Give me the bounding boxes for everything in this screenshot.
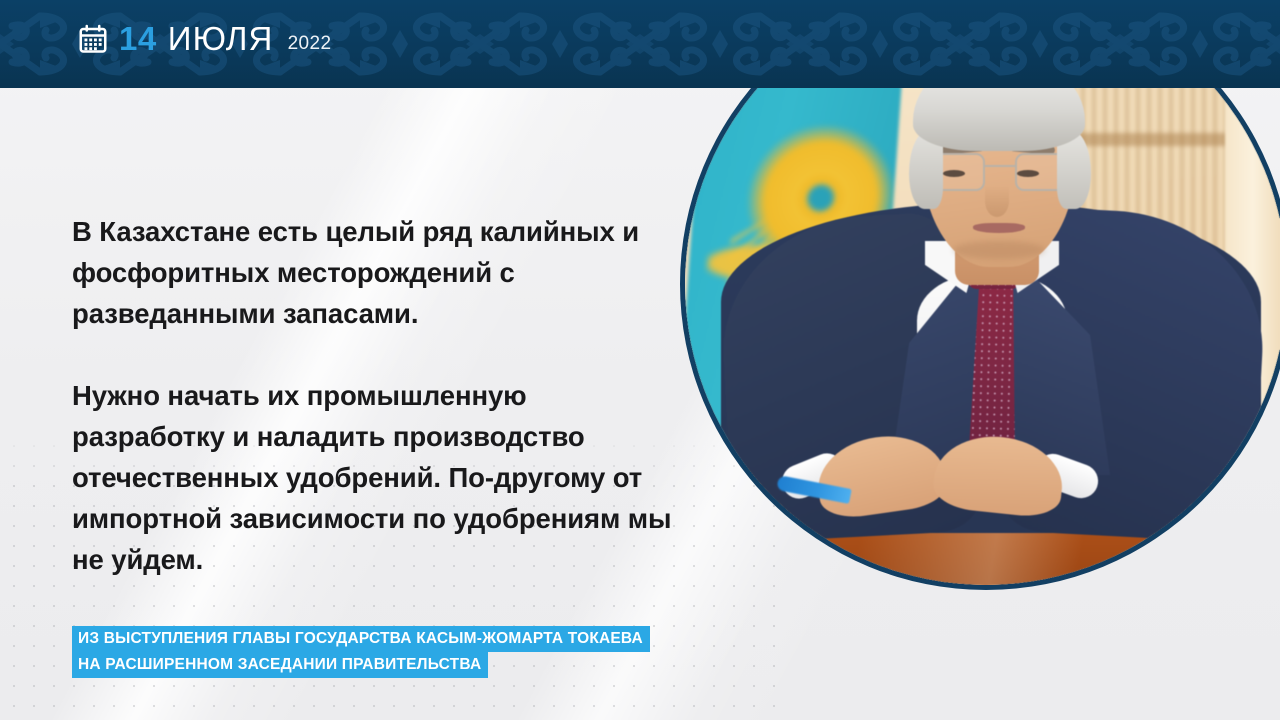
glasses-bridge [983, 165, 1017, 167]
caption-line-2: НА РАСШИРЕННОМ ЗАСЕДАНИИ ПРАВИТЕЛЬСТВА [72, 652, 488, 678]
caption-line-1: ИЗ ВЫСТУПЛЕНИЯ ГЛАВЫ ГОСУДАРСТВА КАСЫМ-Ж… [72, 626, 650, 652]
header-bar: 14 ИЮЛЯ 2022 [0, 0, 1280, 88]
source-caption: ИЗ ВЫСТУПЛЕНИЯ ГЛАВЫ ГОСУДАРСТВА КАСЫМ-Ж… [72, 626, 650, 678]
quote-card: 14 ИЮЛЯ 2022 В Казахстане есть целый ряд… [0, 0, 1280, 720]
eyeglasses [925, 153, 1075, 193]
calendar-icon [78, 24, 108, 54]
quote-paragraph-1: В Казахстане есть целый ряд калийных и ф… [72, 211, 672, 334]
date-month: ИЮЛЯ [168, 22, 274, 55]
header-date: 14 ИЮЛЯ 2022 [78, 22, 331, 55]
date-day: 14 [119, 22, 157, 55]
date-year: 2022 [288, 34, 332, 55]
chin-shadow [953, 241, 1045, 259]
portrait-circle [680, 0, 1280, 590]
quote-paragraph-2: Нужно начать их промышленную разработку … [72, 375, 672, 580]
quote-block: В Казахстане есть целый ряд калийных и ф… [72, 211, 672, 580]
mouth [973, 223, 1025, 233]
